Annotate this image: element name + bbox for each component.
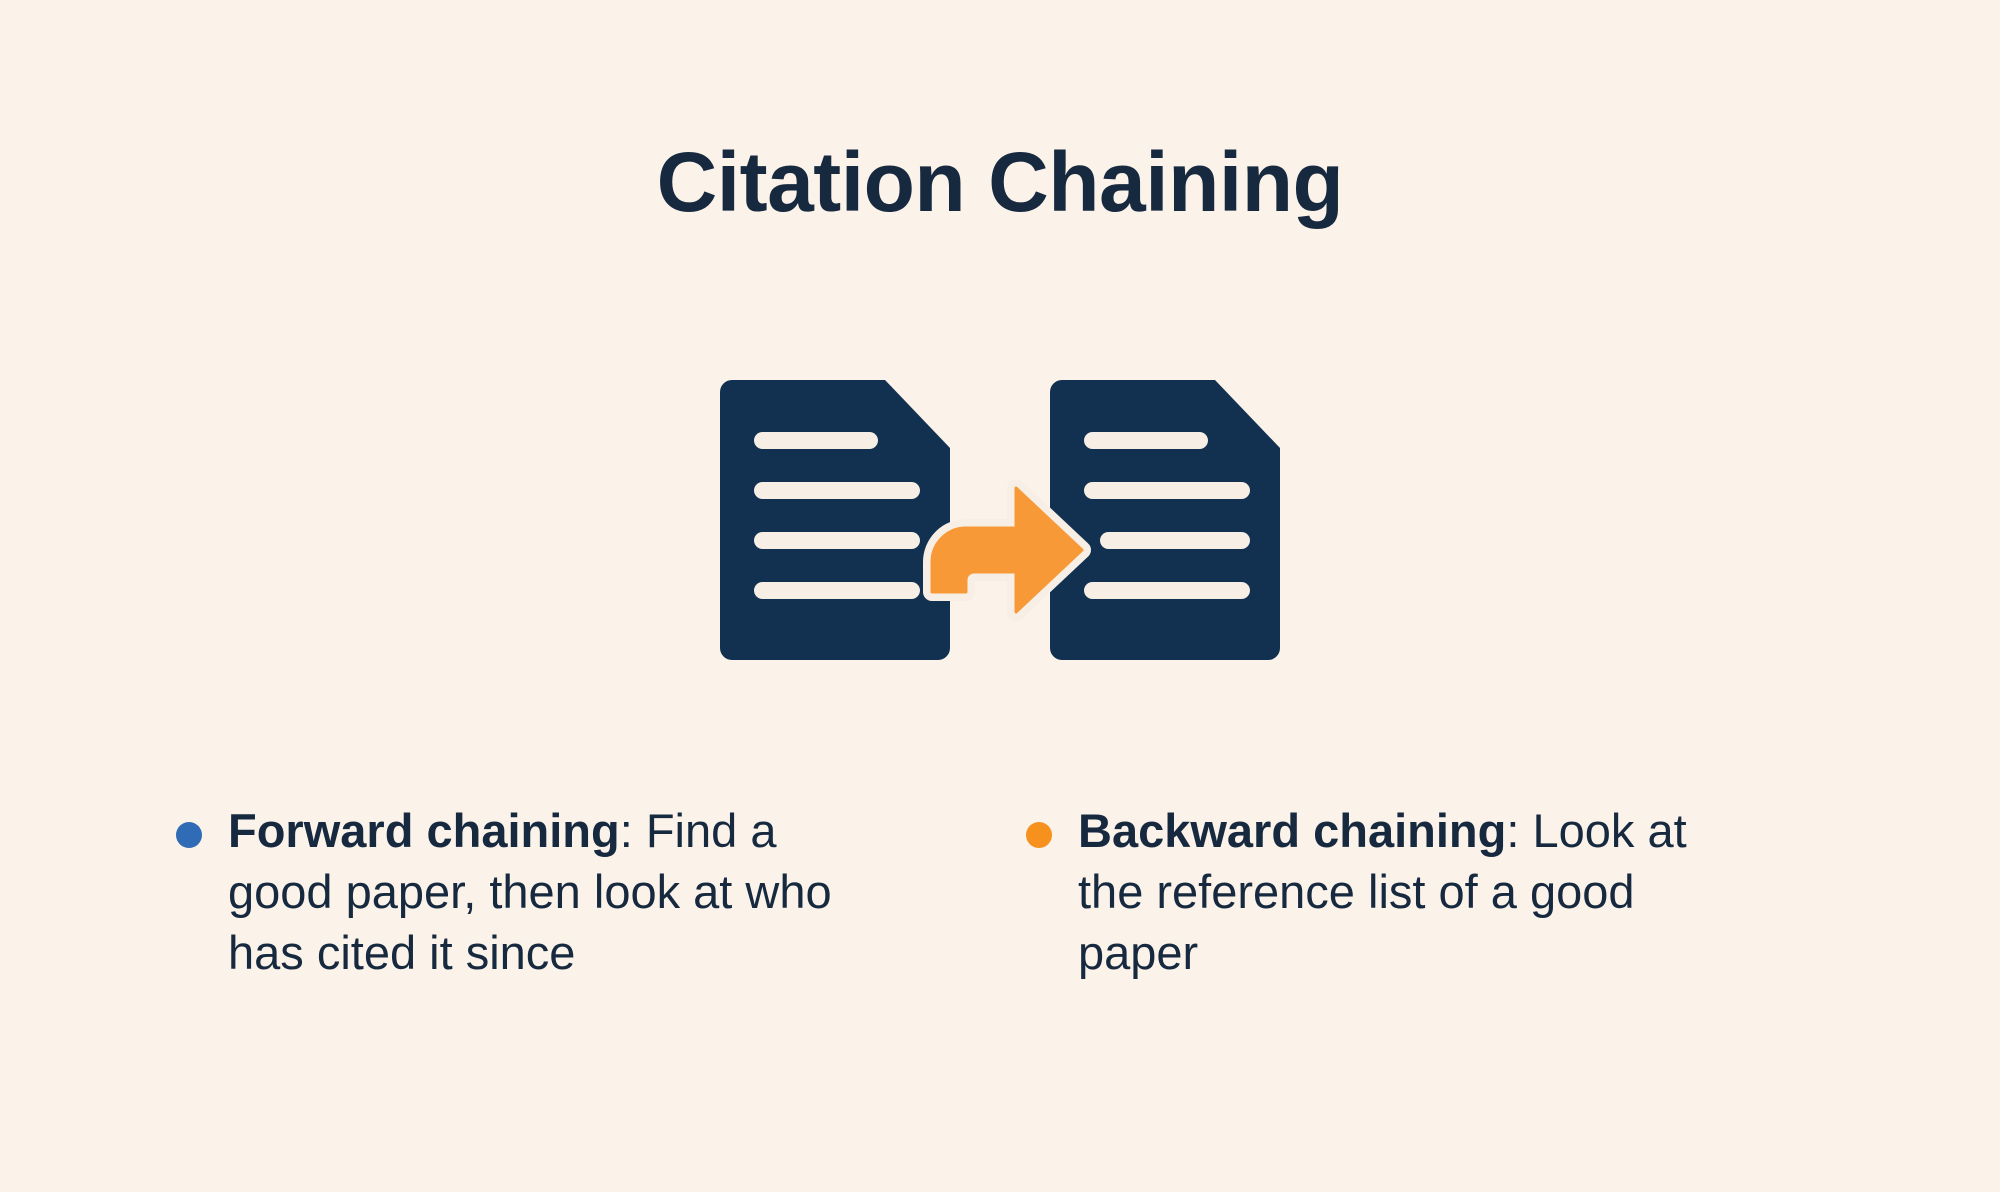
source-document-line-3 xyxy=(754,532,920,549)
source-document-body xyxy=(720,380,950,660)
bullet-lead-backward: Backward chaining xyxy=(1078,804,1506,857)
orange-bullet-dot xyxy=(1026,822,1052,848)
bullet-text-forward: Forward chaining: Find a good paper, the… xyxy=(228,800,888,983)
bullet-lead-forward: Forward chaining xyxy=(228,804,620,857)
list-item-backward-chaining: Backward chaining: Look at the reference… xyxy=(1026,800,1726,983)
source-document xyxy=(720,380,950,660)
citing-document-line-4 xyxy=(1084,582,1250,599)
blue-bullet-dot xyxy=(176,822,202,848)
source-document-line-1 xyxy=(754,432,878,449)
bullet-list: Forward chaining: Find a good paper, the… xyxy=(0,800,2000,983)
citing-document-body xyxy=(1050,380,1280,660)
citing-document-line-2 xyxy=(1084,482,1250,499)
bullet-separator-backward: : xyxy=(1506,804,1532,857)
source-document-line-4 xyxy=(754,582,920,599)
bullet-text-backward: Backward chaining: Look at the reference… xyxy=(1078,800,1726,983)
list-item-forward-chaining: Forward chaining: Find a good paper, the… xyxy=(176,800,1026,983)
citation-chaining-illustration xyxy=(710,370,1290,670)
slide-canvas: Citation Chaining xyxy=(0,0,2000,1192)
page-title: Citation Chaining xyxy=(0,138,2000,226)
citing-document-line-3 xyxy=(1100,532,1250,549)
citing-document-line-1 xyxy=(1084,432,1208,449)
source-document-line-2 xyxy=(754,482,920,499)
citation-chaining-icon xyxy=(0,370,2000,670)
bullet-separator-forward: : xyxy=(620,804,646,857)
citing-document xyxy=(1050,380,1280,660)
